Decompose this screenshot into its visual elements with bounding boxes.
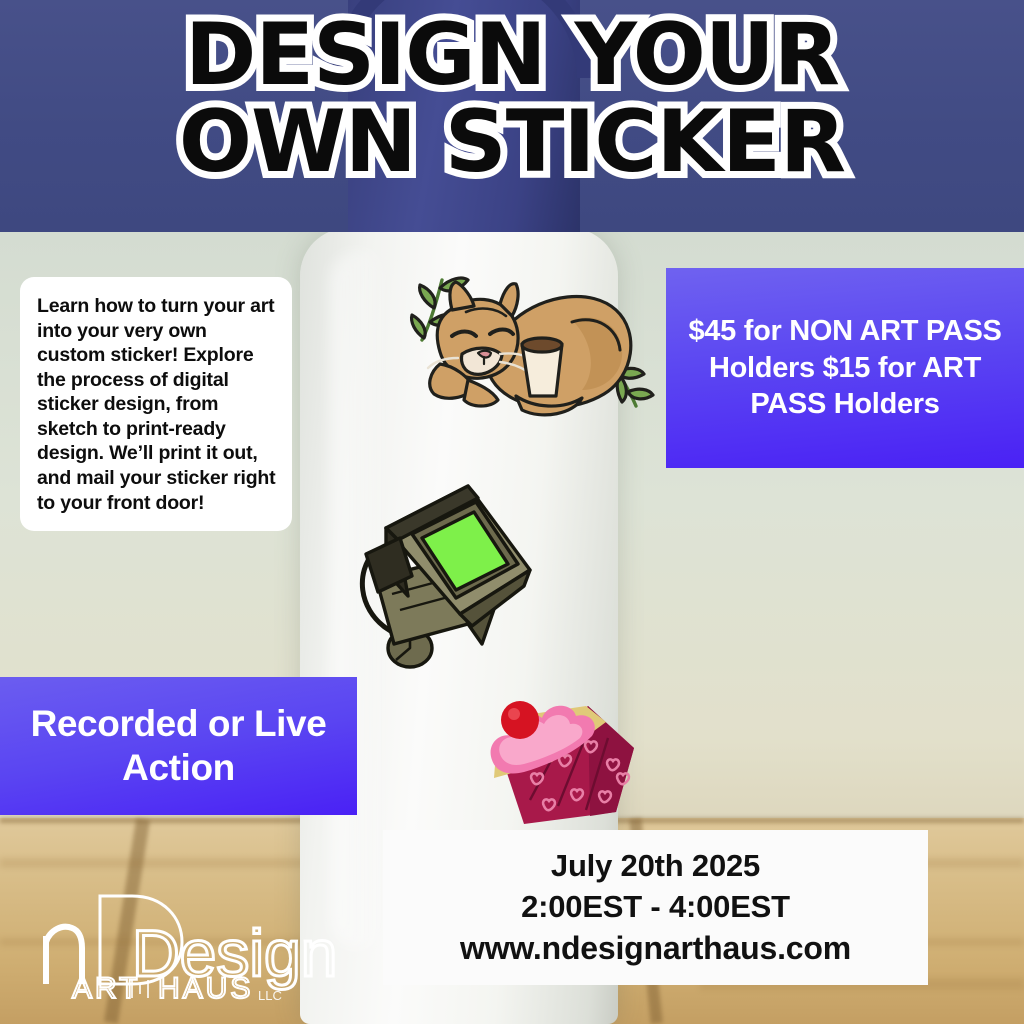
pricing-text: $45 for NON ART PASS Holders $15 for ART… <box>678 313 1012 423</box>
page-title: DESIGN YOUR OWN STICKER <box>0 16 1024 182</box>
logo-tagline-left: ART <box>72 972 140 1004</box>
sleeping-cat-with-coffee-sticker <box>396 258 658 435</box>
description-card: Learn how to turn your art into your ver… <box>20 277 292 531</box>
event-info-box: July 20th 2025 2:00EST - 4:00EST www.nde… <box>383 830 928 985</box>
retro-computer-sticker <box>352 468 568 681</box>
event-website: www.ndesignarthaus.com <box>460 930 851 967</box>
cupcake-sticker <box>466 692 642 837</box>
format-box: Recorded or Live Action <box>0 677 357 815</box>
event-date: July 20th 2025 <box>551 848 760 884</box>
title-line-2: OWN STICKER <box>0 103 1024 182</box>
event-time: 2:00EST - 4:00EST <box>521 889 790 925</box>
title-line-1: DESIGN YOUR <box>0 16 1024 95</box>
logo-suffix: LLC <box>258 988 282 1003</box>
poster: DESIGN YOUR OWN STICKER <box>0 0 1024 1024</box>
format-text: Recorded or Live Action <box>0 702 357 789</box>
ndesign-logo: Design ART HAUS LLC <box>36 884 336 1004</box>
logo-tagline-right: HAUS <box>158 972 253 1004</box>
pricing-box: $45 for NON ART PASS Holders $15 for ART… <box>666 268 1024 468</box>
